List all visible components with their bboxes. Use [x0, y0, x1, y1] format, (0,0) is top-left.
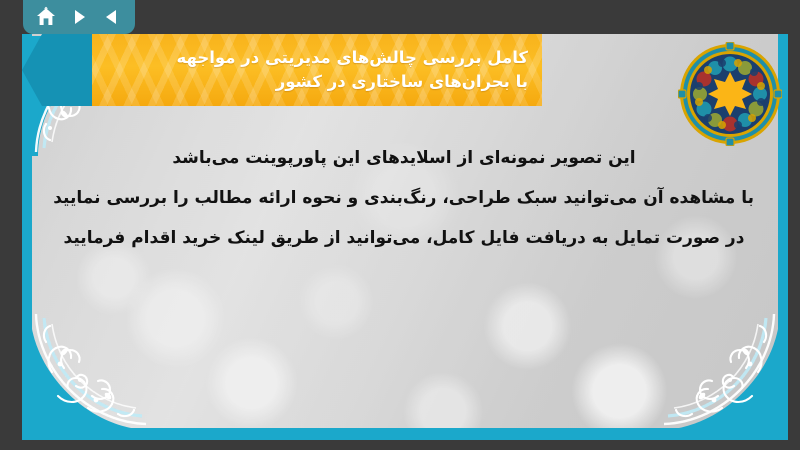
navigation-bar [23, 0, 135, 34]
slide-body-line-2: با مشاهده آن می‌توانید سبک طراحی، رنگ‌بن… [54, 178, 754, 218]
triangle-left-icon [102, 7, 122, 27]
slide-body-text: این تصویر نمونه‌ای از اسلایدهای این پاور… [54, 138, 754, 258]
slide-title-line-1: کامل بررسی چالش‌های مدیریتی در مواجهه [94, 46, 528, 70]
home-icon [35, 6, 57, 28]
next-slide-button[interactable] [66, 4, 92, 30]
slide-body-line-3: در صورت تمایل به دریافت فایل کامل، می‌تو… [54, 218, 754, 258]
slide-title-line-2: با بحران‌های ساختاری در کشور [94, 70, 528, 94]
arabesque-corner-icon [30, 310, 150, 430]
home-button[interactable] [33, 4, 59, 30]
triangle-right-icon [69, 7, 89, 27]
slide-canvas: کامل بررسی چالش‌های مدیریتی در مواجهه با… [22, 34, 788, 440]
arabesque-corner-icon [660, 310, 780, 430]
slide-body-line-1: این تصویر نمونه‌ای از اسلایدهای این پاور… [54, 138, 754, 178]
previous-slide-button[interactable] [99, 4, 125, 30]
slide-title-text-block: کامل بررسی چالش‌های مدیریتی در مواجهه با… [84, 34, 542, 106]
islamic-mandala-medallion-icon [678, 42, 782, 146]
presentation-viewer: کامل بررسی چالش‌های مدیریتی در مواجهه با… [0, 0, 800, 450]
